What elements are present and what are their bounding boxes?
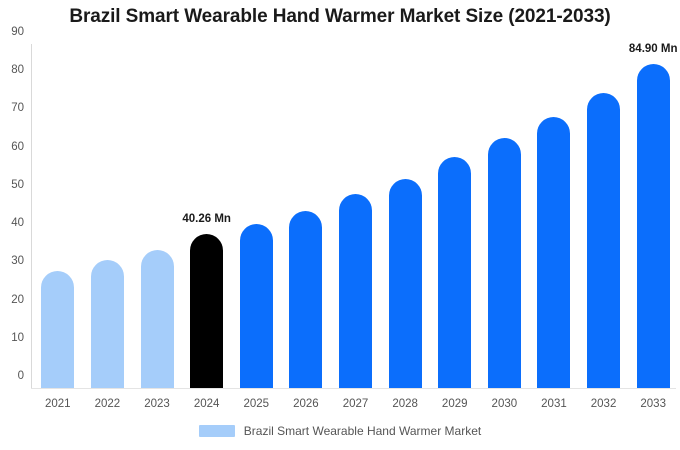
bar-2030[interactable] <box>488 138 521 388</box>
chart-title: Brazil Smart Wearable Hand Warmer Market… <box>0 6 680 28</box>
bar-group[interactable]: 2027 <box>339 44 372 388</box>
bar-2023[interactable] <box>141 250 174 388</box>
x-axis-tick-label: 2026 <box>293 398 319 410</box>
bar-group[interactable]: 2030 <box>488 44 521 388</box>
bar-group[interactable]: 2025 <box>240 44 273 388</box>
bar-group[interactable]: 2023 <box>141 44 174 388</box>
legend-swatch-icon <box>199 425 235 437</box>
x-axis-tick-label: 2027 <box>343 398 369 410</box>
y-axis-tick-label: 90 <box>11 26 24 38</box>
x-axis-tick-label: 2028 <box>392 398 418 410</box>
bar-group[interactable]: 2031 <box>537 44 570 388</box>
y-axis-tick-label: 20 <box>11 294 24 306</box>
bar-group[interactable]: 84.90 Mn2033 <box>637 44 670 388</box>
bar-2033[interactable] <box>637 64 670 389</box>
plot-area: 0102030405060708090 20212022202340.26 Mn… <box>31 44 676 388</box>
bar-group[interactable]: 2028 <box>389 44 422 388</box>
bar-2025[interactable] <box>240 224 273 388</box>
x-axis-tick-label: 2033 <box>640 398 666 410</box>
x-axis-tick-label: 2031 <box>541 398 567 410</box>
bar-2032[interactable] <box>587 93 620 388</box>
y-axis-tick-label: 80 <box>11 64 24 76</box>
bar-2029[interactable] <box>438 157 471 388</box>
x-axis-tick-label: 2022 <box>95 398 121 410</box>
bar-2028[interactable] <box>389 179 422 388</box>
y-axis-tick-label: 50 <box>11 179 24 191</box>
y-axis-tick-label: 40 <box>11 217 24 229</box>
bar-group[interactable]: 2032 <box>587 44 620 388</box>
bar-group[interactable]: 40.26 Mn2024 <box>190 44 223 388</box>
x-axis-line <box>31 388 676 389</box>
y-axis-tick-label: 0 <box>18 370 24 382</box>
bar-group[interactable]: 2021 <box>41 44 74 388</box>
bar-value-label: 40.26 Mn <box>182 213 231 225</box>
y-axis-tick-label: 70 <box>11 102 24 114</box>
x-axis-tick-label: 2024 <box>194 398 220 410</box>
bar-group[interactable]: 2022 <box>91 44 124 388</box>
x-axis-tick-label: 2023 <box>144 398 170 410</box>
bar-2024[interactable] <box>190 234 223 388</box>
x-axis-tick-label: 2021 <box>45 398 71 410</box>
x-axis-tick-label: 2025 <box>243 398 269 410</box>
legend-label: Brazil Smart Wearable Hand Warmer Market <box>244 424 481 438</box>
x-axis-tick-label: 2032 <box>591 398 617 410</box>
bar-group[interactable]: 2026 <box>289 44 322 388</box>
chart-container: Brazil Smart Wearable Hand Warmer Market… <box>0 0 680 450</box>
bar-2021[interactable] <box>41 271 74 388</box>
bar-2027[interactable] <box>339 194 372 388</box>
bar-value-label: 84.90 Mn <box>629 43 678 55</box>
x-axis-tick-label: 2030 <box>492 398 518 410</box>
bar-2026[interactable] <box>289 211 322 388</box>
chart-legend: Brazil Smart Wearable Hand Warmer Market <box>0 424 680 438</box>
y-axis-tick-label: 10 <box>11 332 24 344</box>
y-axis-tick-label: 60 <box>11 141 24 153</box>
y-axis-tick-label: 30 <box>11 255 24 267</box>
bar-2031[interactable] <box>537 117 570 388</box>
bar-2022[interactable] <box>91 260 124 388</box>
bar-group[interactable]: 2029 <box>438 44 471 388</box>
x-axis-tick-label: 2029 <box>442 398 468 410</box>
